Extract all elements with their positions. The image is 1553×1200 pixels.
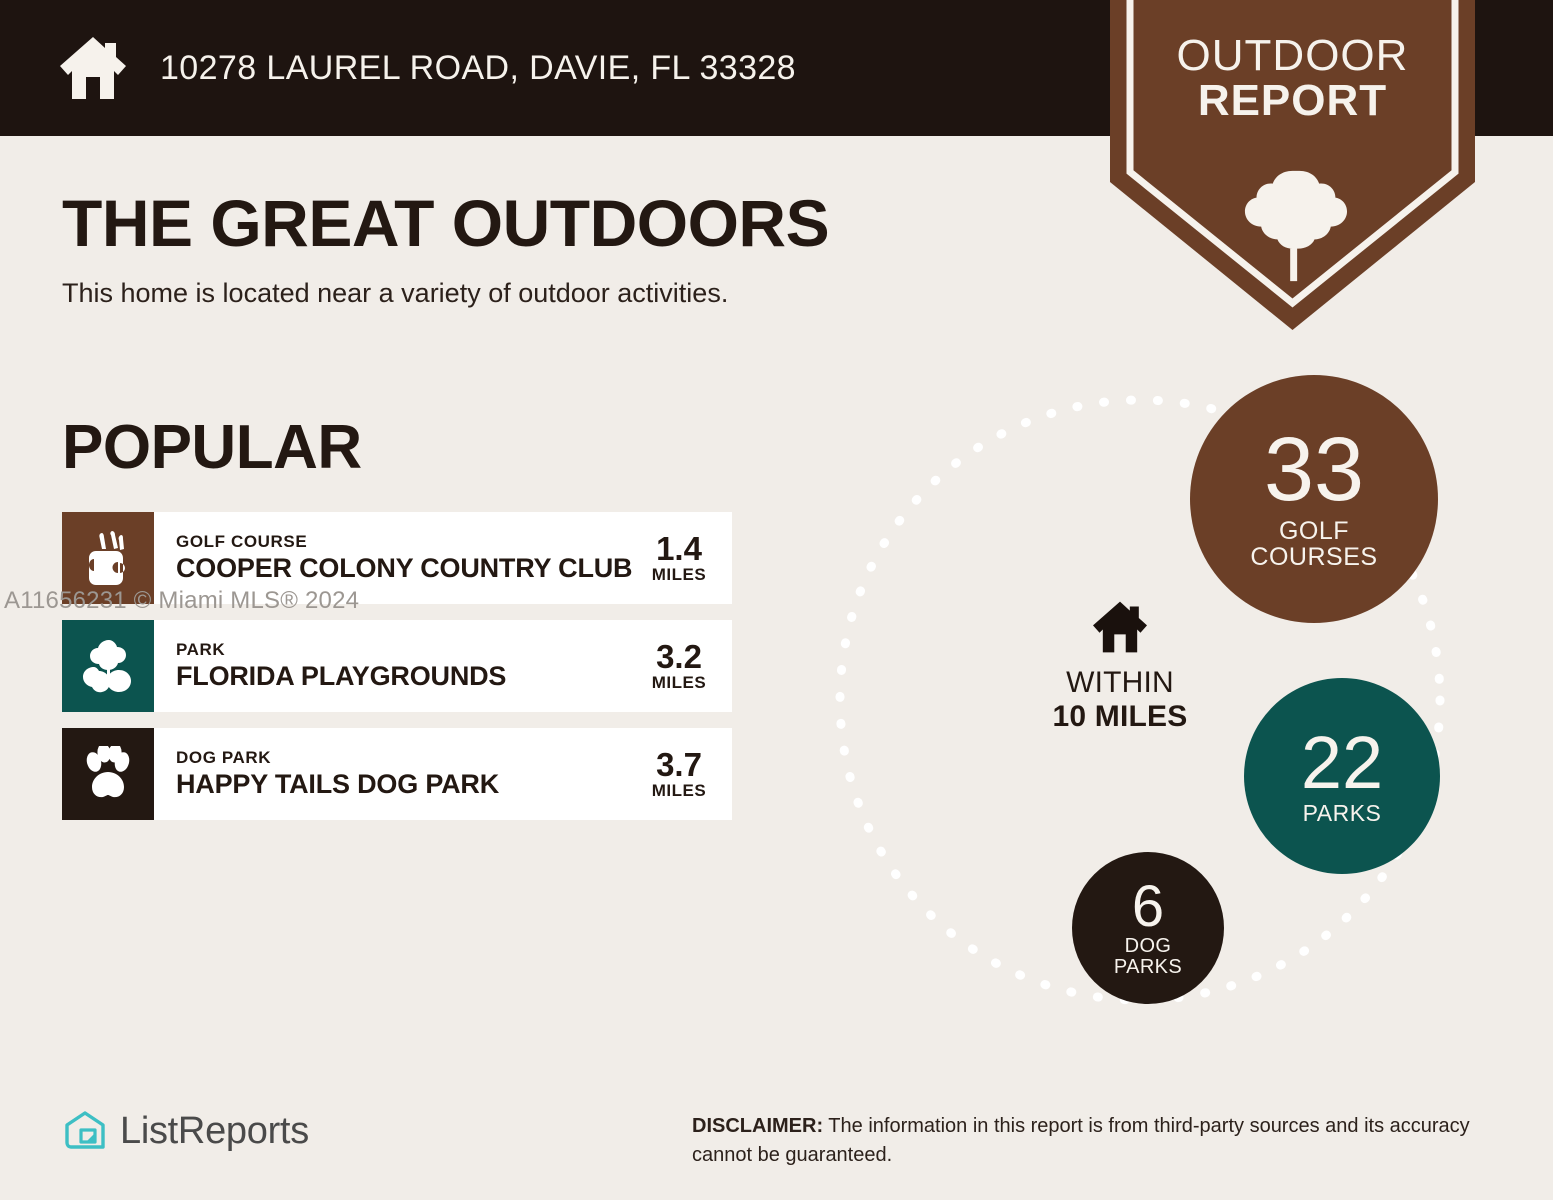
poi-icon-tile [62, 728, 154, 820]
page-title: THE GREAT OUTDOORS [62, 190, 1042, 256]
poi-distance: 3.7 MILES [642, 748, 716, 800]
poi-body: PARK FLORIDA PLAYGROUNDS 3.2 MILES [154, 620, 732, 712]
stat-bubble-golf-courses: 33 GOLF COURSES [1190, 375, 1438, 623]
radius-line1: WITHIN [1020, 666, 1220, 699]
poi-icon-tile [62, 620, 154, 712]
stat-count: 6 [1132, 879, 1164, 935]
outdoor-report-badge: OUTDOOR REPORT [1110, 0, 1475, 330]
stat-bubble-dog-parks: 6 DOG PARKS [1072, 852, 1224, 1004]
home-icon [1090, 600, 1150, 654]
poi-category: GOLF COURSE [176, 532, 632, 551]
golf-bag-icon [82, 529, 134, 587]
badge-line1: OUTDOOR [1110, 34, 1475, 79]
badge-line2: REPORT [1110, 79, 1475, 124]
stat-label: GOLF COURSES [1250, 519, 1377, 571]
listreports-logo[interactable]: ListReports [62, 1108, 309, 1154]
poi-body: DOG PARK HAPPY TAILS DOG PARK 3.7 MILES [154, 728, 732, 820]
poi-distance-unit: MILES [642, 566, 716, 584]
badge-label: OUTDOOR REPORT [1110, 34, 1475, 124]
trees-icon [79, 638, 137, 694]
poi-distance-value: 3.2 [642, 640, 716, 675]
poi-category: DOG PARK [176, 748, 499, 767]
poi-name: COOPER COLONY COUNTRY CLUB [176, 553, 632, 583]
poi-names: GOLF COURSE COOPER COLONY COUNTRY CLUB [176, 532, 632, 583]
stat-label-line1: GOLF [1250, 519, 1377, 545]
disclaimer-label: DISCLAIMER: [692, 1115, 823, 1137]
poi-category: PARK [176, 640, 506, 659]
mls-watermark: A11656231 © Miami MLS® 2024 [4, 587, 359, 615]
list-item[interactable]: DOG PARK HAPPY TAILS DOG PARK 3.7 MILES [62, 728, 732, 820]
stat-label-line1: PARKS [1303, 802, 1382, 826]
radius-center-label: WITHIN 10 MILES [1020, 600, 1220, 734]
stat-label-line2: COURSES [1250, 545, 1377, 571]
poi-distance: 3.2 MILES [642, 640, 716, 692]
poi-distance: 1.4 MILES [642, 532, 716, 584]
poi-names: DOG PARK HAPPY TAILS DOG PARK [176, 748, 499, 799]
title-block: THE GREAT OUTDOORS This home is located … [62, 190, 1042, 309]
paw-print-icon [81, 746, 135, 802]
stat-label-line2: PARKS [1114, 957, 1182, 978]
radius-diagram: WITHIN 10 MILES 33 GOLF COURSES 22 PARKS… [820, 360, 1480, 1030]
poi-names: PARK FLORIDA PLAYGROUNDS [176, 640, 506, 691]
poi-name: HAPPY TAILS DOG PARK [176, 769, 499, 799]
poi-distance-unit: MILES [642, 782, 716, 800]
stat-count: 22 [1301, 727, 1383, 798]
listreports-wordmark: ListReports [120, 1110, 309, 1153]
poi-distance-value: 3.7 [642, 748, 716, 783]
disclaimer: DISCLAIMER: The information in this repo… [692, 1112, 1502, 1170]
radius-line2: 10 MILES [1020, 699, 1220, 734]
stat-label: PARKS [1303, 802, 1382, 826]
popular-list: GOLF COURSE COOPER COLONY COUNTRY CLUB 1… [62, 512, 732, 836]
poi-name: FLORIDA PLAYGROUNDS [176, 661, 506, 691]
poi-distance-unit: MILES [642, 674, 716, 692]
listreports-house-icon [62, 1108, 108, 1154]
stat-bubble-parks: 22 PARKS [1244, 678, 1440, 874]
stat-label-line1: DOG [1114, 936, 1182, 957]
page-subtitle: This home is located near a variety of o… [62, 278, 1042, 309]
stat-label: DOG PARKS [1114, 936, 1182, 977]
home-icon [58, 35, 128, 101]
list-item[interactable]: PARK FLORIDA PLAYGROUNDS 3.2 MILES [62, 620, 732, 712]
poi-distance-value: 1.4 [642, 532, 716, 567]
section-title-popular: POPULAR [62, 412, 362, 483]
property-address: 10278 LAUREL ROAD, DAVIE, FL 33328 [160, 49, 796, 88]
stat-count: 33 [1264, 427, 1364, 513]
